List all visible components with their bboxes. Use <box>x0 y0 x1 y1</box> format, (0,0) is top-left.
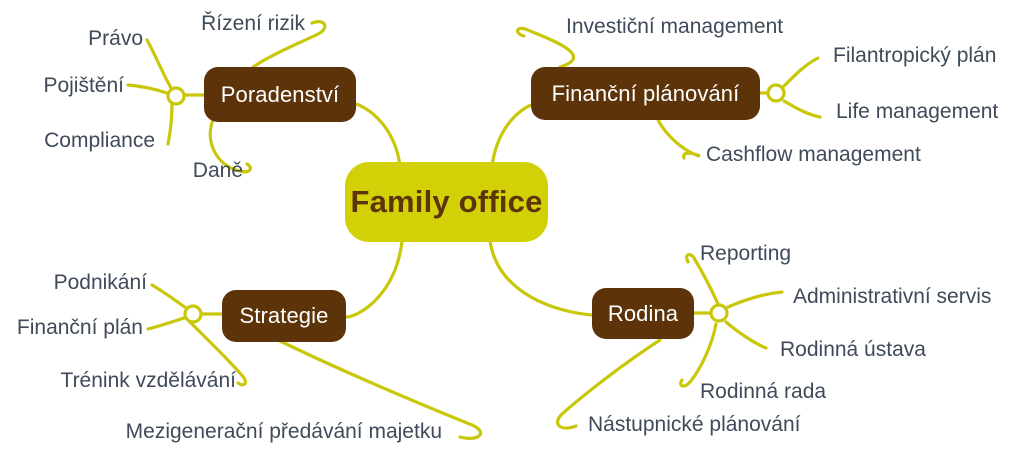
mindmap-canvas: Family office Poradenství Finanční pláno… <box>0 0 1024 453</box>
leaf-cashflow-management[interactable]: Cashflow management <box>706 144 921 165</box>
link-central-strategie <box>347 241 402 317</box>
leaf-label: Finanční plán <box>17 316 143 339</box>
branch-node-financni-planovani[interactable]: Finanční plánování <box>531 67 760 120</box>
link-central-financni <box>492 105 532 166</box>
link-junction-rodinna-ustava <box>726 322 766 348</box>
leaf-investicni-management[interactable]: Investiční management <box>566 16 783 37</box>
link-central-rodina <box>490 241 592 315</box>
link-central-poradenstvi <box>355 104 400 166</box>
leaf-dane[interactable]: Daně <box>193 160 243 181</box>
leaf-label: Reporting <box>700 242 791 265</box>
leaf-reporting[interactable]: Reporting <box>700 243 791 264</box>
leaf-label: Investiční management <box>566 15 783 38</box>
leaf-label: Nástupnické plánování <box>588 413 800 436</box>
leaf-label: Daně <box>193 159 243 182</box>
branch-node-label: Finanční plánování <box>552 81 740 107</box>
leaf-label: Podnikání <box>54 271 147 294</box>
leaf-label: Řízení rizik <box>201 12 305 35</box>
leaf-pravo[interactable]: Právo <box>88 28 143 49</box>
leaf-filantropicky-plan[interactable]: Filantropický plán <box>833 45 996 66</box>
branch-node-label: Rodina <box>608 301 678 327</box>
leaf-label: Cashflow management <box>706 143 921 166</box>
leaf-rodinna-rada[interactable]: Rodinná rada <box>700 381 826 402</box>
branch-node-label: Poradenství <box>221 82 340 108</box>
link-junction-pojisteni <box>128 85 167 93</box>
leaf-label: Compliance <box>44 129 155 152</box>
central-node[interactable]: Family office <box>345 162 548 242</box>
leaf-administrativni-servis[interactable]: Administrativní servis <box>793 286 991 307</box>
leaf-label: Life management <box>836 100 998 123</box>
branch-node-label: Strategie <box>240 303 329 329</box>
leaf-label: Trénink vzdělávání <box>61 369 236 392</box>
leaf-trenink-vzdelavani[interactable]: Trénink vzdělávání <box>61 370 236 391</box>
leaf-label: Filantropický plán <box>833 44 996 67</box>
link-junction-podnikani <box>152 285 186 308</box>
leaf-label: Mezigenerační předávání majetku <box>126 420 442 443</box>
leaf-life-management[interactable]: Life management <box>836 101 998 122</box>
junction-strategie <box>185 306 201 322</box>
branch-node-poradenstvi[interactable]: Poradenství <box>204 67 356 122</box>
central-node-label: Family office <box>350 184 542 220</box>
branch-node-rodina[interactable]: Rodina <box>592 288 694 339</box>
link-financni-cashflow <box>658 120 700 158</box>
leaf-label: Právo <box>88 27 143 50</box>
link-junction-compliance <box>168 104 172 144</box>
link-junction-life <box>784 101 820 117</box>
link-junction-pravo <box>147 40 171 88</box>
leaf-mezigeneracni-predavani-majetku[interactable]: Mezigenerační předávání majetku <box>126 421 442 442</box>
junction-financni <box>768 85 784 101</box>
leaf-label: Rodinná rada <box>700 380 826 403</box>
leaf-financni-plan[interactable]: Finanční plán <box>17 317 143 338</box>
junction-poradenstvi <box>168 88 184 104</box>
junction-rodina <box>711 305 727 321</box>
leaf-rodinna-ustava[interactable]: Rodinná ústava <box>780 339 926 360</box>
leaf-label: Administrativní servis <box>793 285 991 308</box>
leaf-compliance[interactable]: Compliance <box>44 130 155 151</box>
branch-node-strategie[interactable]: Strategie <box>222 290 346 342</box>
leaf-rizeni-rizik[interactable]: Řízení rizik <box>201 13 305 34</box>
link-junction-administrativni <box>728 292 782 307</box>
link-junction-filantropicky <box>784 58 818 86</box>
leaf-label: Pojištění <box>43 74 124 97</box>
leaf-podnikani[interactable]: Podnikání <box>54 272 147 293</box>
leaf-nastupnicke-planovani[interactable]: Nástupnické plánování <box>588 414 800 435</box>
leaf-label: Rodinná ústava <box>780 338 926 361</box>
link-junction-financni-plan <box>148 318 184 329</box>
leaf-pojisteni[interactable]: Pojištění <box>43 75 124 96</box>
